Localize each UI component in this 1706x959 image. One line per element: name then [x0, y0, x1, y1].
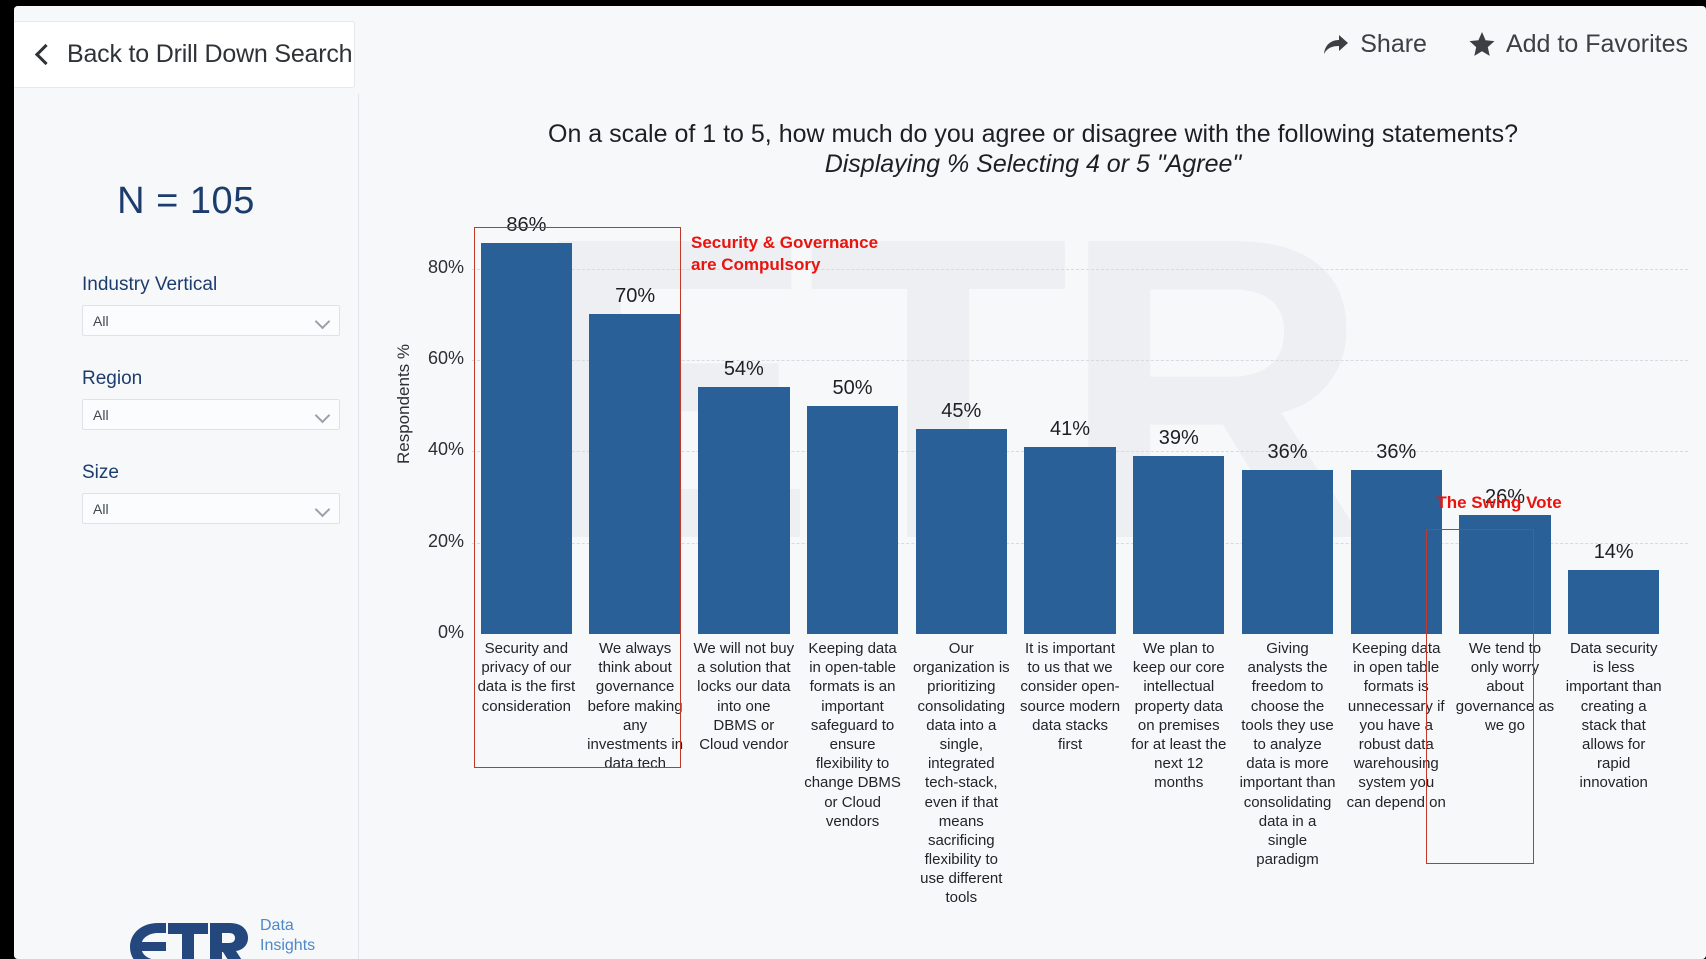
bar-value-label: 50%: [833, 377, 873, 400]
filter-size: Size All: [82, 462, 340, 524]
y-axis-tick-label: 80%: [400, 257, 464, 278]
category-label: Data security is less important than cre…: [1559, 639, 1668, 908]
y-axis-tick-label: 20%: [400, 531, 464, 552]
category-label: We always think about governance before …: [581, 639, 690, 908]
bar-value-label: 70%: [615, 285, 655, 308]
bar[interactable]: [1133, 456, 1224, 634]
share-icon: [1322, 34, 1349, 56]
filter-label: Region: [82, 368, 340, 390]
bar-column[interactable]: 36%: [1342, 214, 1451, 634]
size-select[interactable]: All: [82, 493, 340, 524]
bar[interactable]: [481, 243, 572, 634]
bar-column[interactable]: 50%: [798, 214, 907, 634]
plot-area: Respondents % 0%20%40%60%80% 86%70%54%50…: [360, 94, 1706, 959]
chevron-left-icon: [35, 44, 56, 65]
bar-value-label: 41%: [1050, 418, 1090, 441]
star-icon: [1469, 32, 1495, 57]
category-label: We plan to keep our core intellectual pr…: [1124, 639, 1233, 908]
bar-value-label: 36%: [1267, 441, 1307, 464]
bar[interactable]: [1024, 447, 1115, 634]
bar[interactable]: [1351, 470, 1442, 634]
bar-column[interactable]: 36%: [1233, 214, 1342, 634]
category-label: Our organization is prioritizing consoli…: [907, 639, 1016, 908]
filters-sidebar: N = 105 Industry Vertical All Region All…: [14, 94, 359, 959]
dashboard-app: Back to Drill Down Search Share Add to F…: [14, 6, 1706, 959]
favorites-label: Add to Favorites: [1506, 30, 1688, 59]
tagline-line-2: Insights: [260, 936, 320, 956]
bar-value-label: 86%: [506, 214, 546, 237]
bar-value-label: 45%: [941, 400, 981, 423]
bar-column[interactable]: 39%: [1124, 214, 1233, 634]
add-to-favorites-button[interactable]: Add to Favorites: [1469, 30, 1688, 59]
bar[interactable]: [698, 387, 789, 634]
bar[interactable]: [589, 314, 680, 634]
chevron-down-icon: [315, 408, 331, 424]
etr-tagline: Data Insights Connect: [260, 916, 320, 959]
chevron-down-icon: [315, 314, 331, 330]
bar[interactable]: [1568, 570, 1659, 634]
back-to-drill-down-search-button[interactable]: Back to Drill Down Search: [14, 21, 355, 88]
filter-industry-vertical: Industry Vertical All: [82, 274, 340, 336]
category-label: It is important to us that we consider o…: [1016, 639, 1125, 908]
category-label: Security and privacy of our data is the …: [472, 639, 581, 908]
filter-value: All: [93, 313, 109, 329]
bar-column[interactable]: 41%: [1016, 214, 1125, 634]
chevron-down-icon: [315, 502, 331, 518]
back-button-label: Back to Drill Down Search: [67, 40, 352, 69]
share-label: Share: [1360, 30, 1427, 59]
bar[interactable]: [1242, 470, 1333, 634]
annotation-label-security-governance: Security & Governance are Compulsory: [691, 232, 881, 277]
y-axis-tick-label: 60%: [400, 348, 464, 369]
category-label: Keeping data in open table formats is un…: [1342, 639, 1451, 908]
chart-panel: ETR On a scale of 1 to 5, how much do yo…: [360, 94, 1706, 959]
bar-column[interactable]: 45%: [907, 214, 1016, 634]
bar-column[interactable]: 14%: [1559, 214, 1668, 634]
filter-label: Size: [82, 462, 340, 484]
bar[interactable]: [807, 406, 898, 634]
etr-logomark-icon: [122, 921, 250, 959]
y-axis-tick-label: 40%: [400, 439, 464, 460]
bar[interactable]: [1459, 515, 1550, 634]
region-select[interactable]: All: [82, 399, 340, 430]
filter-label: Industry Vertical: [82, 274, 340, 296]
filter-value: All: [93, 407, 109, 423]
category-label: We tend to only worry about governance a…: [1451, 639, 1560, 908]
tagline-line-1: Data: [260, 916, 320, 936]
bar-column[interactable]: 70%: [581, 214, 690, 634]
share-button[interactable]: Share: [1322, 30, 1427, 59]
bar-value-label: 36%: [1376, 441, 1416, 464]
bar-value-label: 39%: [1159, 427, 1199, 450]
annotation-label-swing-vote: The Swing Vote: [1434, 492, 1564, 514]
filter-region: Region All: [82, 368, 340, 430]
bar[interactable]: [916, 429, 1007, 634]
y-axis-tick-label: 0%: [400, 622, 464, 643]
bar-value-label: 54%: [724, 358, 764, 381]
top-bar: Back to Drill Down Search Share Add to F…: [14, 6, 1706, 94]
etr-logo: Data Insights Connect: [122, 916, 320, 959]
bar-column[interactable]: 26%: [1451, 214, 1560, 634]
bar-value-label: 14%: [1594, 541, 1634, 564]
filter-value: All: [93, 501, 109, 517]
category-label: Keeping data in open-table formats is an…: [798, 639, 907, 908]
respondent-count: N = 105: [14, 180, 358, 223]
industry-vertical-select[interactable]: All: [82, 305, 340, 336]
bar-column[interactable]: 86%: [472, 214, 581, 634]
category-label: We will not buy a solution that locks ou…: [689, 639, 798, 908]
bar-column[interactable]: 54%: [689, 214, 798, 634]
category-label: Giving analysts the freedom to choose th…: [1233, 639, 1342, 908]
x-axis-category-labels: Security and privacy of our data is the …: [472, 639, 1668, 908]
top-actions: Share Add to Favorites: [1322, 30, 1688, 59]
bar-series: 86%70%54%50%45%41%39%36%36%26%14%: [472, 214, 1668, 634]
